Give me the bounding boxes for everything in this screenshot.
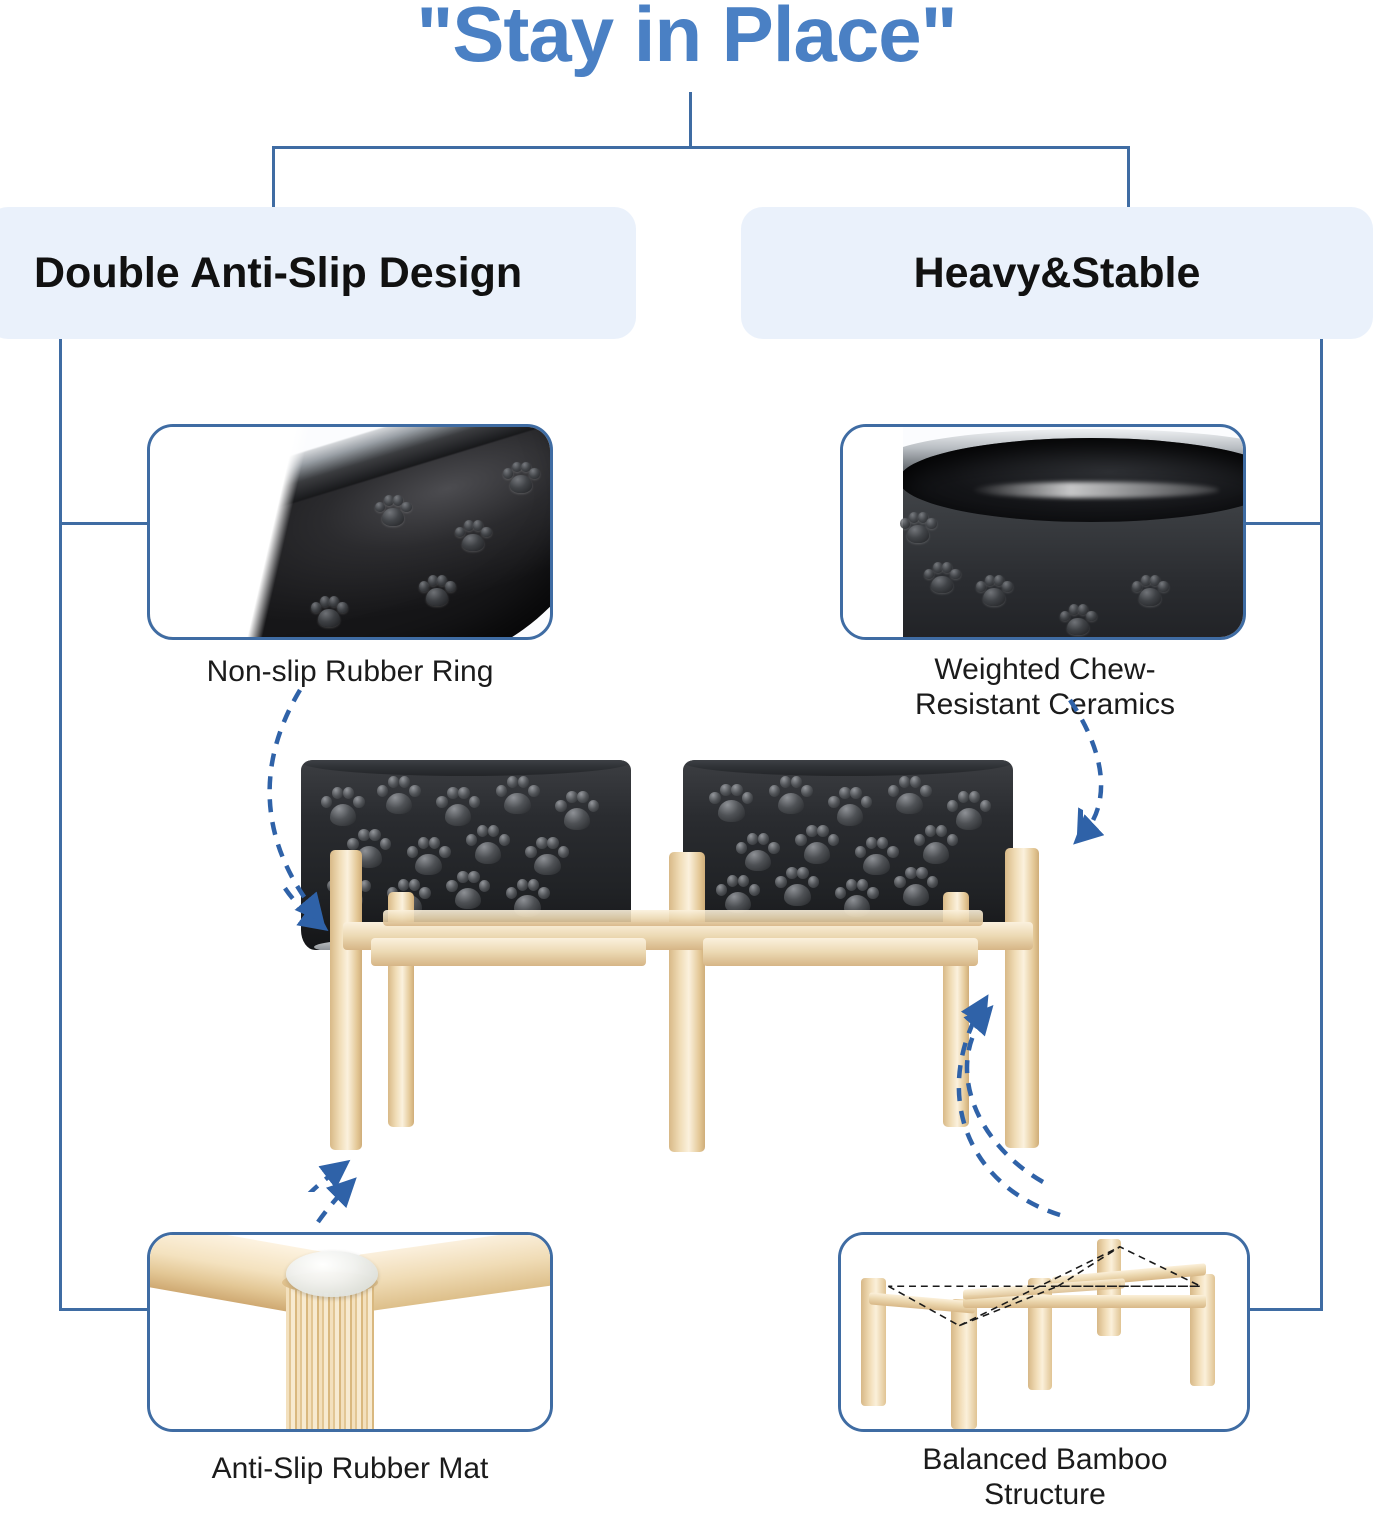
stand-leg-front-right [1005,848,1039,1148]
connector-right-spine [1320,339,1323,1311]
connector-to-right-header [1127,146,1130,208]
caption-anti-slip-rubber-mat: Anti-Slip Rubber Mat [150,1452,550,1487]
balance-triangle-lines [841,1235,1247,1432]
photo-balanced-bamboo-structure [838,1232,1250,1432]
connector-left-branch-bottom [59,1308,151,1311]
header-label: Double Anti-Slip Design [0,249,636,298]
stand-rail-lower-right [703,938,978,966]
connector-left-branch-top [59,522,151,525]
bamboo-leg-rubber-pad-illustration [150,1235,550,1429]
page-title: "Stay in Place" [0,0,1373,76]
bowl-topview-illustration [843,427,1243,637]
caption-weighted-chew-resistant-ceramics: Weighted Chew- Resistant Ceramics [845,653,1245,723]
header-heavy-stable[interactable]: Heavy&Stable [741,207,1373,339]
arrow-to-leg-foot-left [293,1164,345,1192]
arrow-to-bowl-wall-right [1080,742,1083,834]
photo-non-slip-rubber-ring [147,424,553,640]
bowl-underside-illustration [150,427,550,637]
stand-leg-front-left [330,850,362,1150]
bamboo-frame-balance-illustration [841,1235,1247,1429]
header-double-anti-slip[interactable]: Double Anti-Slip Design [0,207,636,339]
header-label: Heavy&Stable [741,249,1373,298]
connector-title-stem [689,92,692,148]
stand-platform [383,910,983,926]
caption-balanced-bamboo-structure: Balanced Bamboo Structure [845,1443,1245,1513]
connector-to-left-header [272,146,275,208]
hero-product-double-bowls-on-bamboo-stand [283,742,1083,1192]
caption-non-slip-rubber-ring: Non-slip Rubber Ring [150,655,550,690]
stand-leg-center [669,852,705,1152]
connector-right-branch-bottom [1247,1308,1323,1311]
infographic-canvas: "Stay in Place" Double Anti-Slip Design … [0,0,1373,1500]
connector-left-spine [59,339,62,1311]
stand-rail-lower-left [371,938,646,966]
photo-weighted-chew-resistant-ceramics [840,424,1246,640]
connector-right-branch-top [1244,522,1323,525]
photo-anti-slip-rubber-mat [147,1232,553,1432]
connector-top-crossbar [272,146,1130,149]
